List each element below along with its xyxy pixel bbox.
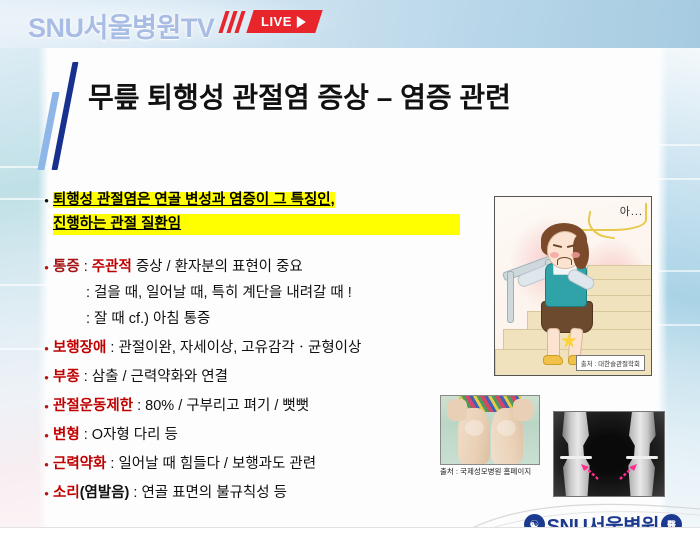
bullet-separator: :: [80, 369, 92, 385]
bullet-separator: :: [133, 398, 145, 414]
bullet-separator: :: [129, 485, 141, 501]
page-title: 무릎 퇴행성 관절염 증상 – 염증 관련: [88, 76, 511, 116]
bullet-dot-icon: •: [40, 257, 53, 276]
bullet-row-pain: • 통증 : 주관적 증상 / 환자분의 표현이 중요: [40, 257, 460, 277]
highlight-bullet-row: • 퇴행성 관절염은 연골 변성과 염증이 그 특징인, 진행하는 관절 질환임: [40, 190, 460, 235]
bullet-keyword-suffix: (염발음): [80, 485, 130, 501]
bullet-rest: O자형 다리 등: [92, 427, 178, 443]
highlight-line-2: 진행하는 관절 질환임: [53, 214, 460, 235]
bullet-dot-icon: •: [40, 454, 53, 473]
speech-text: 아...: [620, 203, 643, 219]
bullet-separator: :: [106, 340, 118, 356]
bullet-rest: 연골 표면의 불규칙성 등: [141, 485, 287, 501]
bullet-keyword: 관절운동제한: [53, 398, 133, 414]
play-triangle-icon: [297, 16, 306, 28]
bullet-keyword: 보행장애: [53, 340, 106, 356]
bullet-row-gait: • 보행장애 : 관절이완, 자세이상, 고유감각ㆍ균형이상: [40, 338, 460, 358]
triple-slash-icon: [222, 11, 248, 33]
bullet-dot-icon: •: [40, 367, 53, 386]
presentation-slide: SNU서울병원TV LIVE 무릎 퇴행성 관절염 증상 – 염증 관련 • 퇴…: [0, 0, 700, 551]
bullet-row-deformity: • 변형 : O자형 다리 등: [40, 425, 460, 445]
channel-brand-title: SNU서울병원TV: [28, 6, 214, 45]
bullet-dot-icon: •: [40, 425, 53, 444]
highlight-line-1: 퇴행성 관절염은 연골 변성과 염증이 그 특징인,: [53, 192, 335, 208]
bullet-keyword: 부종: [53, 369, 80, 385]
bullet-rest: 일어날 때 힘들다 / 보행과도 관련: [118, 456, 316, 472]
bullet-rest: 삼출 / 근력약화와 연결: [92, 369, 228, 385]
bullet-emphasis: 주관적: [92, 259, 132, 275]
cartoon-source-caption: 출처 : 대한슬관절학회: [576, 355, 645, 371]
bullet-dot-icon: •: [40, 396, 53, 415]
xray-arrow-right-icon: [618, 464, 638, 480]
bullet-separator: :: [106, 456, 118, 472]
bullet-keyword: 근력약화: [53, 456, 106, 472]
live-badge-label: LIVE: [261, 15, 292, 28]
bullet-subline: : 잘 때 cf.) 아침 통증: [40, 309, 460, 329]
bullet-separator: :: [80, 427, 92, 443]
knee-xray-image: [553, 411, 665, 497]
bullet-dot-icon: •: [40, 483, 53, 502]
bullet-subline: : 걸을 때, 일어날 때, 특히 계단을 내려갈 때 !: [40, 283, 460, 303]
knee-photo: [440, 395, 540, 465]
bullet-keyword: 변형: [53, 427, 80, 443]
bullet-rest: 관절이완, 자세이상, 고유감각ㆍ균형이상: [118, 340, 361, 356]
bullet-dot-icon: •: [40, 338, 53, 357]
bullet-row-weakness: • 근력약화 : 일어날 때 힘들다 / 보행과도 관련: [40, 454, 460, 474]
bullet-separator: :: [80, 259, 92, 275]
bullet-dot-icon: •: [40, 190, 53, 209]
title-accent-bar-dark: [52, 62, 79, 170]
bullet-keyword: 소리: [53, 485, 80, 501]
bullet-row-swelling: • 부종 : 삼출 / 근력약화와 연결: [40, 367, 460, 387]
live-badge: LIVE: [246, 10, 322, 33]
bullet-keyword: 통증: [53, 259, 80, 275]
bullet-row-crepitus: • 소리(염발음) : 연골 표면의 불규칙성 등: [40, 483, 460, 503]
cartoon-illustration: 아...: [494, 196, 652, 376]
knee-photo-source-caption: 출처 : 국제성모병원 홈페이지: [440, 466, 545, 477]
slide-content: • 퇴행성 관절염은 연골 변성과 염증이 그 특징인, 진행하는 관절 질환임…: [40, 190, 460, 503]
bullet-rest: 80% / 구부리고 펴기 / 뻣뻣: [145, 398, 309, 414]
bullet-row-rom: • 관절운동제한 : 80% / 구부리고 펴기 / 뻣뻣: [40, 396, 460, 416]
bottom-white-strip: [0, 527, 700, 551]
bullet-rest: 증상 / 환자분의 표현이 중요: [132, 259, 303, 275]
xray-arrow-left-icon: [580, 464, 600, 480]
